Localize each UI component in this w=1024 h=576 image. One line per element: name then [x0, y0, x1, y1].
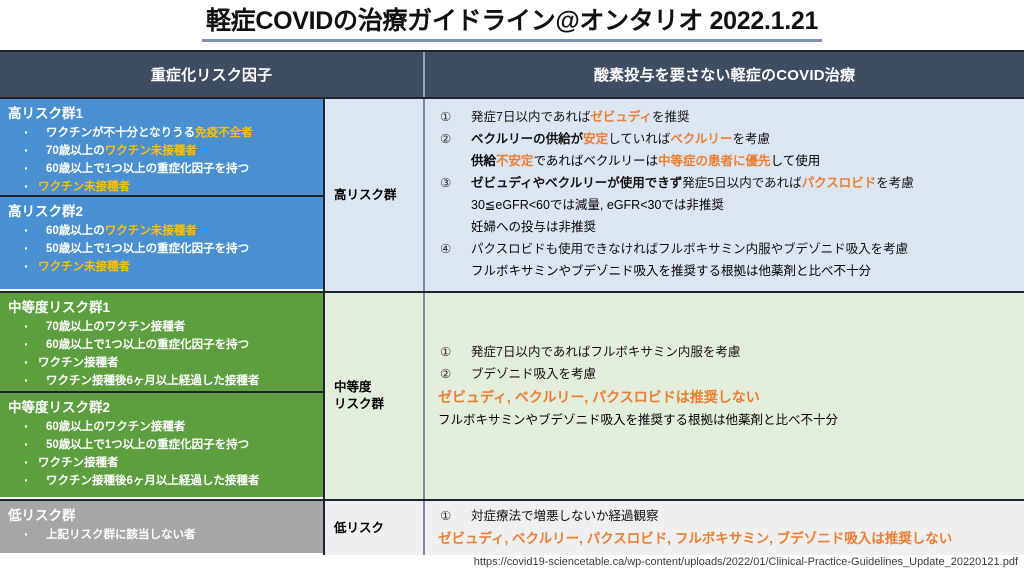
bullet-highlight: ワクチン未接種者 — [38, 261, 130, 273]
low-risk-label: 低リスク — [334, 520, 384, 537]
item-text: ブデゾニド吸入を考慮 — [471, 367, 596, 381]
treatment-item-4-note: フルボキサミンやブデゾニド吸入を推奨する根拠は他薬剤と比べ不十分 — [435, 260, 1018, 282]
moderate-risk-group-2-title: 中等度リスク群2 — [8, 398, 317, 417]
high-risk-label: 高リスク群 — [334, 187, 397, 204]
low-risk-group: 低リスク群 上記リスク群に該当しない者 — [0, 501, 323, 553]
list-item: 70歳以上のワクチン未接種者 — [16, 142, 317, 160]
list-item-continuation: ワクチン未接種者 — [16, 178, 317, 196]
sub-status-highlight: 不安定 — [496, 154, 534, 168]
item-drug-highlight: パクスロビド — [802, 176, 877, 190]
column-header-risk-factors: 重症化リスク因子 — [0, 52, 425, 97]
moderate-risk-label-line1: 中等度 — [334, 380, 372, 394]
bullet-text: 60歳以上で1つ以上の重症化因子を持つ — [46, 163, 249, 175]
item-text-mid: していれば — [608, 132, 670, 146]
bullet-text: ワクチン接種後6ヶ月以上経過した接種者 — [46, 375, 259, 387]
treatment-item-1: ① 発症7日以内であればフルボキサミン内服を考慮 — [435, 341, 1018, 363]
moderate-risk-label-line2: リスク群 — [334, 397, 384, 411]
item-text: ゼビュディやベクルリーが使用できず — [471, 176, 682, 190]
item-text-tail: を推奨 — [652, 110, 690, 124]
list-item: 上記リスク群に該当しない者 — [16, 526, 317, 544]
list-item: 70歳以上のワクチン接種者 — [16, 318, 317, 336]
low-risk-group-title: 低リスク群 — [8, 506, 317, 525]
sub-priority-highlight: 中等症の患者に優先 — [658, 154, 771, 168]
list-item-continuation: ワクチン接種者 — [16, 354, 317, 372]
moderate-risk-evidence-note: フルボキサミンやブデゾニド吸入を推奨する根拠は他薬剤と比べ不十分 — [435, 409, 1018, 431]
low-risk-factors-cell: 低リスク群 上記リスク群に該当しない者 — [0, 501, 325, 555]
list-item: 50歳以上で1つ以上の重症化因子を持つ — [16, 240, 317, 258]
high-risk-group-2-bullets: 60歳以上のワクチン未接種者 50歳以上で1つ以上の重症化因子を持つ ワクチン未… — [8, 222, 317, 276]
treatment-item-1: ① 対症療法で増悪しないか経過観察 — [435, 505, 1018, 527]
bullet-text: ワクチン接種者 — [38, 457, 119, 469]
treatment-item-3-note-1: 30≦eGFR<60では減量, eGFR<30では非推奨 — [435, 194, 1018, 216]
low-risk-treatment-list: ① 対症療法で増悪しないか経過観察 — [435, 505, 1018, 527]
item-text-tail: を考慮 — [732, 132, 770, 146]
bullet-text: 60歳以上で1つ以上の重症化因子を持つ — [46, 339, 249, 351]
treatment-item-1: ① 発症7日以内であればゼビュディを推奨 — [435, 106, 1018, 128]
list-item: ワクチン接種後6ヶ月以上経過した接種者 — [16, 472, 317, 490]
column-header-treatment: 酸素投与を要さない軽症のCOVID治療 — [425, 52, 1024, 97]
low-risk-not-recommended-banner: ゼビュディ, ベクルリー, パクスロビド, フルボキサミン, ブデゾニド吸入は推… — [435, 527, 1018, 551]
high-risk-label-cell: 高リスク群 — [325, 99, 425, 291]
bullet-highlight: ワクチン未接種者 — [105, 225, 197, 237]
bullet-highlight: ワクチン未接種者 — [105, 145, 197, 157]
moderate-risk-group-1-title: 中等度リスク群1 — [8, 298, 317, 317]
item-number: ④ — [440, 238, 451, 260]
bullet-text: 50歳以上で1つ以上の重症化因子を持つ — [46, 439, 249, 451]
moderate-risk-group-2: 中等度リスク群2 60歳以上のワクチン接種者 50歳以上で1つ以上の重症化因子を… — [0, 393, 323, 497]
item-text: パクスロビドも使用できなければフルボキサミン内服やブデゾニド吸入を考慮 — [471, 242, 908, 256]
item-text-mid: 発症5日以内であれば — [682, 176, 801, 190]
moderate-risk-label-cell: 中等度リスク群 — [325, 293, 425, 499]
treatment-item-3-note-2: 妊婦への投与は非推奨 — [435, 216, 1018, 238]
item-status-highlight: 安定 — [583, 132, 608, 146]
table-row-low-risk: 低リスク群 上記リスク群に該当しない者 低リスク ① 対症療法で増悪しないか経過… — [0, 501, 1024, 555]
item-text: 対症療法で増悪しないか経過観察 — [471, 509, 659, 523]
table-row-high-risk: 高リスク群1 ワクチンが不十分となりうる免疫不全者 70歳以上のワクチン未接種者… — [0, 99, 1024, 293]
bullet-highlight: 免疫不全者 — [195, 127, 253, 139]
list-item: ワクチン接種後6ヶ月以上経過した接種者 — [16, 372, 317, 390]
treatment-item-4: ④ パクスロビドも使用できなければフルボキサミン内服やブデゾニド吸入を考慮 — [435, 238, 1018, 260]
table-header-row: 重症化リスク因子 酸素投与を要さない軽症のCOVID治療 — [0, 52, 1024, 99]
high-risk-treatment-list: ① 発症7日以内であればゼビュディを推奨 ② ベクルリーの供給が安定していればベ… — [435, 106, 1018, 150]
list-item: 60歳以上で1つ以上の重症化因子を持つ — [16, 160, 317, 178]
bullet-text: 60歳以上の — [46, 225, 105, 237]
bullet-text: 70歳以上の — [46, 145, 105, 157]
sub-text: 供給 — [471, 154, 496, 168]
item-number: ① — [440, 341, 451, 363]
list-item-continuation: ワクチン未接種者 — [16, 258, 317, 276]
slide-root: 軽症COVIDの治療ガイドライン@オンタリオ 2022.1.21 重症化リスク因… — [0, 0, 1024, 576]
list-item: ワクチンが不十分となりうる免疫不全者 — [16, 124, 317, 142]
item-drug-highlight: ベクルリー — [670, 132, 732, 146]
item-number: ② — [440, 363, 451, 385]
list-item: 50歳以上で1つ以上の重症化因子を持つ — [16, 436, 317, 454]
item-text: 発症7日以内であれば — [471, 110, 590, 124]
list-item: 60歳以上のワクチン未接種者 — [16, 222, 317, 240]
item-number: ② — [440, 128, 451, 150]
high-risk-group-1: 高リスク群1 ワクチンが不十分となりうる免疫不全者 70歳以上のワクチン未接種者… — [0, 99, 323, 197]
bullet-text: 上記リスク群に該当しない者 — [46, 529, 196, 541]
bullet-text: 60歳以上のワクチン接種者 — [46, 421, 185, 433]
item-text-tail: を考慮 — [876, 176, 914, 190]
item-text: 発症7日以内であればフルボキサミン内服を考慮 — [471, 345, 740, 359]
item-text: ベクルリーの供給が — [471, 132, 583, 146]
high-risk-treatment-list-cont2: ④ パクスロビドも使用できなければフルボキサミン内服やブデゾニド吸入を考慮 — [435, 238, 1018, 260]
source-url-text: https://covid19-sciencetable.ca/wp-conte… — [474, 556, 1018, 568]
sub-text-tail: して使用 — [771, 154, 821, 168]
high-risk-group-1-title: 高リスク群1 — [8, 104, 317, 123]
bullet-text: 50歳以上で1つ以上の重症化因子を持つ — [46, 243, 249, 255]
moderate-risk-group-1-bullets: 70歳以上のワクチン接種者 60歳以上で1つ以上の重症化因子を持つ ワクチン接種… — [8, 318, 317, 390]
low-risk-treatment-cell: ① 対症療法で増悪しないか経過観察 ゼビュディ, ベクルリー, パクスロビド, … — [425, 501, 1024, 555]
high-risk-group-2-title: 高リスク群2 — [8, 202, 317, 221]
treatment-item-3: ③ ゼビュディやベクルリーが使用できず発症5日以内であればパクスロビドを考慮 — [435, 172, 1018, 194]
bullet-text: ワクチン接種者 — [38, 357, 119, 369]
title-container: 軽症COVIDの治療ガイドライン@オンタリオ 2022.1.21 — [0, 2, 1024, 42]
treatment-item-2: ② ブデゾニド吸入を考慮 — [435, 363, 1018, 385]
table-row-moderate-risk: 中等度リスク群1 70歳以上のワクチン接種者 60歳以上で1つ以上の重症化因子を… — [0, 293, 1024, 501]
low-risk-group-bullets: 上記リスク群に該当しない者 — [8, 526, 317, 544]
high-risk-group-2: 高リスク群2 60歳以上のワクチン未接種者 50歳以上で1つ以上の重症化因子を持… — [0, 197, 323, 289]
item-number: ① — [440, 106, 451, 128]
moderate-risk-treatment-list: ① 発症7日以内であればフルボキサミン内服を考慮 ② ブデゾニド吸入を考慮 — [435, 341, 1018, 385]
moderate-risk-label: 中等度リスク群 — [334, 379, 384, 413]
high-risk-group-1-bullets: ワクチンが不十分となりうる免疫不全者 70歳以上のワクチン未接種者 60歳以上で… — [8, 124, 317, 196]
treatment-item-2: ② ベクルリーの供給が安定していればベクルリーを考慮 — [435, 128, 1018, 150]
list-item: 60歳以上で1つ以上の重症化因子を持つ — [16, 336, 317, 354]
moderate-risk-group-1: 中等度リスク群1 70歳以上のワクチン接種者 60歳以上で1つ以上の重症化因子を… — [0, 293, 323, 393]
low-risk-label-cell: 低リスク — [325, 501, 425, 555]
bullet-highlight: ワクチン未接種者 — [38, 181, 130, 193]
bullet-text: ワクチンが不十分となりうる — [46, 127, 195, 139]
source-url-footer: https://covid19-sciencetable.ca/wp-conte… — [0, 556, 1024, 568]
high-risk-treatment-list-cont: ③ ゼビュディやベクルリーが使用できず発症5日以内であればパクスロビドを考慮 — [435, 172, 1018, 194]
guideline-table: 重症化リスク因子 酸素投与を要さない軽症のCOVID治療 高リスク群1 ワクチン… — [0, 50, 1024, 553]
bullet-text: ワクチン接種後6ヶ月以上経過した接種者 — [46, 475, 259, 487]
sub-text-mid: であればベクルリーは — [534, 154, 659, 168]
high-risk-factors-cell: 高リスク群1 ワクチンが不十分となりうる免疫不全者 70歳以上のワクチン未接種者… — [0, 99, 325, 291]
moderate-risk-treatment-cell: ① 発症7日以内であればフルボキサミン内服を考慮 ② ブデゾニド吸入を考慮 ゼビ… — [425, 293, 1024, 499]
page-title: 軽症COVIDの治療ガイドライン@オンタリオ 2022.1.21 — [202, 2, 822, 42]
item-drug-highlight: ゼビュディ — [590, 110, 652, 124]
bullet-text: 70歳以上のワクチン接種者 — [46, 321, 185, 333]
item-number: ③ — [440, 172, 451, 194]
moderate-risk-group-2-bullets: 60歳以上のワクチン接種者 50歳以上で1つ以上の重症化因子を持つ ワクチン接種… — [8, 418, 317, 490]
high-risk-treatment-cell: ① 発症7日以内であればゼビュディを推奨 ② ベクルリーの供給が安定していればベ… — [425, 99, 1024, 291]
item-number: ① — [440, 505, 451, 527]
treatment-item-2-sub: 供給不安定であればベクルリーは中等症の患者に優先して使用 — [435, 150, 1018, 172]
moderate-risk-factors-cell: 中等度リスク群1 70歳以上のワクチン接種者 60歳以上で1つ以上の重症化因子を… — [0, 293, 325, 499]
list-item-continuation: ワクチン接種者 — [16, 454, 317, 472]
moderate-risk-not-recommended-banner: ゼビュディ, ベクルリー, パクスロビドは推奨しない — [435, 385, 1018, 409]
list-item: 60歳以上のワクチン接種者 — [16, 418, 317, 436]
